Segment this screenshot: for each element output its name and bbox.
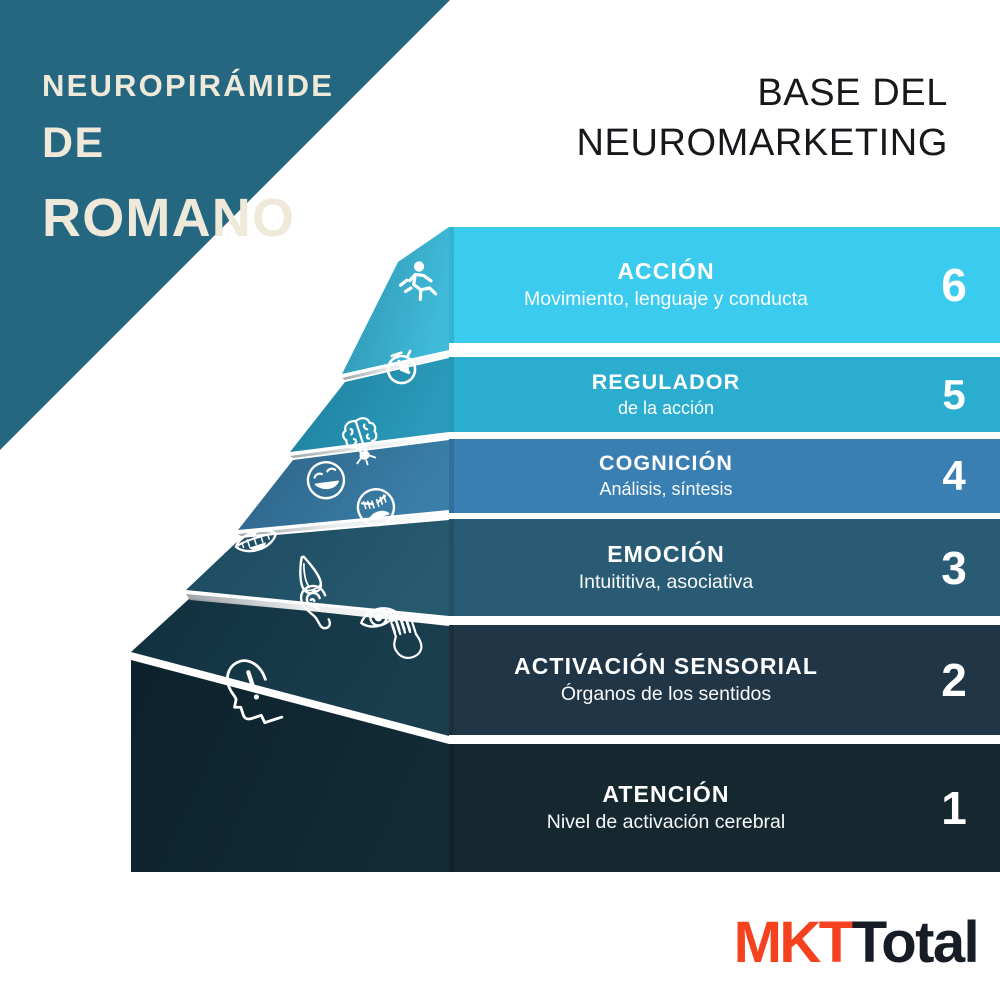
eye-sight-icon: [359, 604, 398, 631]
level-3-title: EMOCIÓN: [454, 541, 878, 568]
pyramid-face-level-2: [131, 598, 449, 736]
logo-word-total: Total: [852, 914, 978, 972]
subtitle-base-del-neuromarketing: BASE DEL NEUROMARKETING: [576, 68, 948, 168]
level-4-text: COGNICIÓN Análisis, síntesis: [454, 451, 908, 501]
infographic-canvas: NEUROPIRÁMIDE DE ROMANO BASE DEL NEUROMA…: [0, 0, 1000, 1000]
level-1-text: ATENCIÓN Nivel de activación cerebral: [454, 781, 908, 835]
level-5-subtitle: de la acción: [454, 397, 878, 420]
level-1-number: 1: [908, 785, 1000, 831]
level-5-title: REGULADOR: [454, 370, 878, 395]
pyramid-face-level-5: [290, 358, 449, 452]
pyramid-level-2[interactable]: ACTIVACIÓN SENSORIAL Órganos de los sent…: [454, 625, 1000, 735]
level-3-text: EMOCIÓN Intuititiva, asociativa: [454, 541, 908, 595]
level-2-number: 2: [908, 657, 1000, 703]
brand-logo[interactable]: MKT Total: [734, 914, 978, 972]
title-line-romano: ROMANO: [42, 191, 422, 245]
angry-face-icon: [353, 485, 398, 530]
happy-face-icon: [303, 458, 348, 503]
level-6-title: ACCIÓN: [454, 258, 878, 285]
pyramid-face-level-1: [131, 660, 449, 872]
running-person-icon: [395, 260, 436, 304]
mouth-taste-icon: [233, 523, 280, 556]
level-4-title: COGNICIÓN: [454, 451, 878, 476]
page-title: NEUROPIRÁMIDE DE ROMANO: [42, 70, 422, 245]
level-5-number: 5: [908, 374, 1000, 416]
level-3-number: 3: [908, 545, 1000, 591]
pyramid-level-5[interactable]: REGULADOR de la acción 5: [454, 357, 1000, 432]
level-6-text: ACCIÓN Movimiento, lenguaje y conducta: [454, 258, 908, 312]
level-2-title: ACTIVACIÓN SENSORIAL: [454, 653, 878, 680]
pyramid-level-3[interactable]: EMOCIÓN Intuititiva, asociativa 3: [454, 519, 1000, 616]
head-alert-icon: [222, 654, 282, 730]
hand-touch-icon: [386, 611, 425, 661]
nose-smell-icon: [294, 554, 323, 595]
ear-hearing-icon: [298, 583, 335, 633]
pyramid-face-level-4: [238, 440, 449, 530]
level-5-text: REGULADOR de la acción: [454, 370, 908, 420]
level-4-number: 4: [908, 455, 1000, 497]
title-line-de: DE: [42, 122, 422, 165]
pyramid-level-1[interactable]: ATENCIÓN Nivel de activación cerebral 1: [454, 744, 1000, 872]
title-line-neuropiramide: NEUROPIRÁMIDE: [42, 70, 422, 101]
pyramid-face-level-3: [186, 520, 449, 616]
pyramid-level-4[interactable]: COGNICIÓN Análisis, síntesis 4: [454, 439, 1000, 513]
brain-bulb-icon: [340, 415, 386, 469]
logo-mark-mkt: MKT: [734, 914, 852, 972]
stopwatch-icon: [384, 350, 419, 387]
level-6-number: 6: [908, 262, 1000, 308]
level-1-title: ATENCIÓN: [454, 781, 878, 808]
pyramid-level-6[interactable]: ACCIÓN Movimiento, lenguaje y conducta 6: [454, 227, 1000, 343]
level-6-subtitle: Movimiento, lenguaje y conducta: [454, 287, 878, 311]
level-1-subtitle: Nivel de activación cerebral: [454, 810, 878, 834]
subtitle-line-2: NEUROMARKETING: [576, 118, 948, 168]
level-3-subtitle: Intuititiva, asociativa: [454, 570, 878, 594]
level-2-text: ACTIVACIÓN SENSORIAL Órganos de los sent…: [454, 653, 908, 707]
subtitle-line-1: BASE DEL: [576, 68, 948, 118]
level-4-subtitle: Análisis, síntesis: [454, 478, 878, 501]
level-2-subtitle: Órganos de los sentidos: [454, 682, 878, 706]
pyramid-face-level-6: [342, 227, 449, 374]
